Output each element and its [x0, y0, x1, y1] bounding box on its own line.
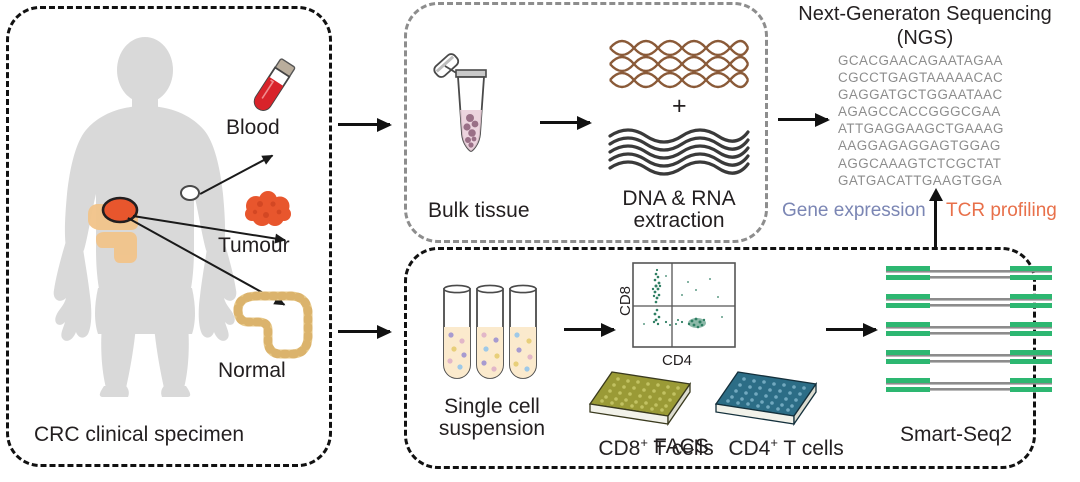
- eppendorf-tube-icon: [428, 52, 498, 162]
- arrow-facs-to-smartseq2: [826, 328, 876, 331]
- arrow-suspension-to-facs: [564, 328, 614, 331]
- ngs-title: Next-Generaton Sequencing (NGS): [770, 2, 1080, 50]
- readout-gene-expression: Gene expression: [782, 200, 926, 222]
- panel-caption-specimen: CRC clinical specimen: [34, 424, 244, 446]
- label-dna-rna-extraction: DNA & RNA extraction: [608, 188, 750, 232]
- colon-icon: [228, 288, 318, 364]
- label-single-cell-suspension: Single cell suspension: [424, 396, 560, 440]
- tumour-tissue-icon: [240, 188, 298, 234]
- plate-label-cd4: CD4+ T cells: [705, 410, 844, 482]
- ngs-title-line1: Next-Generaton Sequencing: [798, 3, 1052, 25]
- ngs-sequence-block: GCACGAACAGAATAGAA CGCCTGAGTAAAAACAC GAGG…: [838, 52, 1048, 189]
- arrow-tube-to-extraction: [540, 121, 590, 124]
- figure-canvas: Blood Tumour Normal CRC clinical specime…: [0, 0, 1080, 473]
- label-facs: FACS: [654, 436, 709, 458]
- plate-label-cd4-sup: +: [770, 435, 778, 450]
- test-tubes-icon: [436, 283, 544, 391]
- arrow-smartseq2-to-ngs: [934, 200, 937, 248]
- sample-label-tumour: Tumour: [218, 235, 290, 257]
- readout-tcr-profiling: TCR profiling: [946, 200, 1057, 222]
- dna-double-helix-icon: [608, 44, 750, 92]
- arrow-specimen-to-single-cell: [338, 330, 390, 333]
- arrow-extraction-to-ngs: [778, 118, 828, 121]
- facs-x-axis-label: CD4: [662, 350, 692, 372]
- plate-label-cd8-marker: CD8: [598, 437, 640, 460]
- plate-label-cd8-sup: +: [640, 435, 648, 450]
- blood-tube-icon: [240, 52, 304, 122]
- label-smart-seq2: Smart-Seq2: [900, 424, 1012, 446]
- arrow-specimen-to-bulk: [338, 123, 390, 126]
- cdna-library-icon: [886, 262, 1052, 402]
- flow-cytometry-scatter-icon: [632, 262, 736, 348]
- plate-label-cd4-marker: CD4: [728, 437, 770, 460]
- sample-label-blood: Blood: [226, 117, 280, 139]
- blood-draw-marker: [181, 186, 199, 200]
- sample-label-normal: Normal: [218, 360, 286, 382]
- label-bulk-tissue: Bulk tissue: [428, 200, 530, 222]
- plus-symbol: +: [672, 95, 687, 117]
- plate-label-cd4-suffix: T cells: [778, 437, 844, 460]
- ngs-title-line2: (NGS): [897, 27, 954, 49]
- rna-strand-icon: [608, 130, 750, 170]
